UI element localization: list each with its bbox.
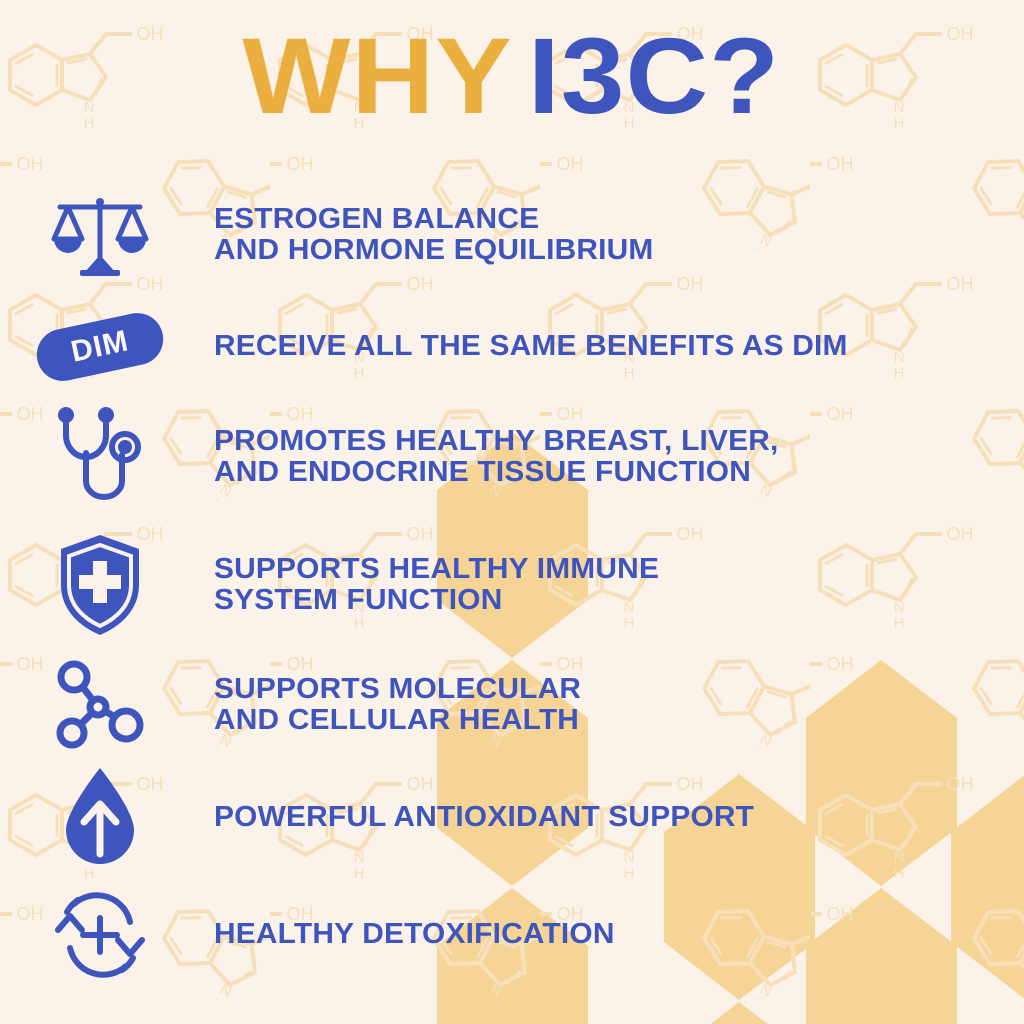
benefit-text: RECEIVE ALL THE SAME BENEFITS AS DIM — [214, 331, 848, 362]
water-drop-arrow-icon — [58, 766, 142, 870]
benefit-text: ESTROGEN BALANCE AND HORMONE EQUILIBRIUM — [214, 204, 654, 267]
stethoscope-icon — [52, 407, 148, 507]
benefit-text: SUPPORTS HEALTHY IMMUNE SYSTEM FUNCTION — [214, 554, 659, 617]
page-title: WHYI3C? — [0, 22, 1024, 130]
poster-canvas: N H OH WHYI3C? — [0, 0, 1024, 1024]
benefit-item-antioxidant-support: POWERFUL ANTIOXIDANT SUPPORT — [0, 763, 1024, 873]
dim-pill-icon: DIM — [32, 308, 168, 385]
benefit-item-healthy-detox: HEALTHY DETOXIFICATION — [0, 880, 1024, 990]
shield-cross-icon — [57, 533, 143, 637]
icon-cell — [0, 180, 200, 290]
benefit-item-immune-support: SUPPORTS HEALTHY IMMUNE SYSTEM FUNCTION — [0, 530, 1024, 640]
icon-cell: DIM — [0, 292, 200, 402]
icon-cell — [0, 880, 200, 990]
icon-cell — [0, 530, 200, 640]
hexagon-shape — [664, 1002, 815, 1024]
icon-cell — [0, 763, 200, 873]
benefit-item-estrogen-balance: ESTROGEN BALANCE AND HORMONE EQUILIBRIUM — [0, 180, 1024, 290]
title-word-why: WHY — [243, 22, 513, 130]
dim-pill-label: DIM — [68, 324, 132, 369]
benefit-item-molecular-health: SUPPORTS MOLECULAR AND CELLULAR HEALTH — [0, 650, 1024, 760]
detox-cycle-icon — [50, 886, 150, 984]
balance-scales-icon — [50, 193, 150, 277]
benefit-item-tissue-function: PROMOTES HEALTHY BREAST, LIVER, AND ENDO… — [0, 402, 1024, 512]
benefit-text: POWERFUL ANTIOXIDANT SUPPORT — [214, 802, 754, 833]
title-word-i3c: I3C? — [528, 22, 780, 130]
icon-cell — [0, 402, 200, 512]
benefit-text: PROMOTES HEALTHY BREAST, LIVER, AND ENDO… — [214, 426, 779, 489]
benefit-item-dim-benefits: DIM RECEIVE ALL THE SAME BENEFITS AS DIM — [0, 292, 1024, 402]
benefit-text: SUPPORTS MOLECULAR AND CELLULAR HEALTH — [214, 674, 581, 737]
benefit-text: HEALTHY DETOXIFICATION — [214, 919, 615, 950]
molecule-icon — [52, 659, 148, 751]
icon-cell — [0, 650, 200, 760]
